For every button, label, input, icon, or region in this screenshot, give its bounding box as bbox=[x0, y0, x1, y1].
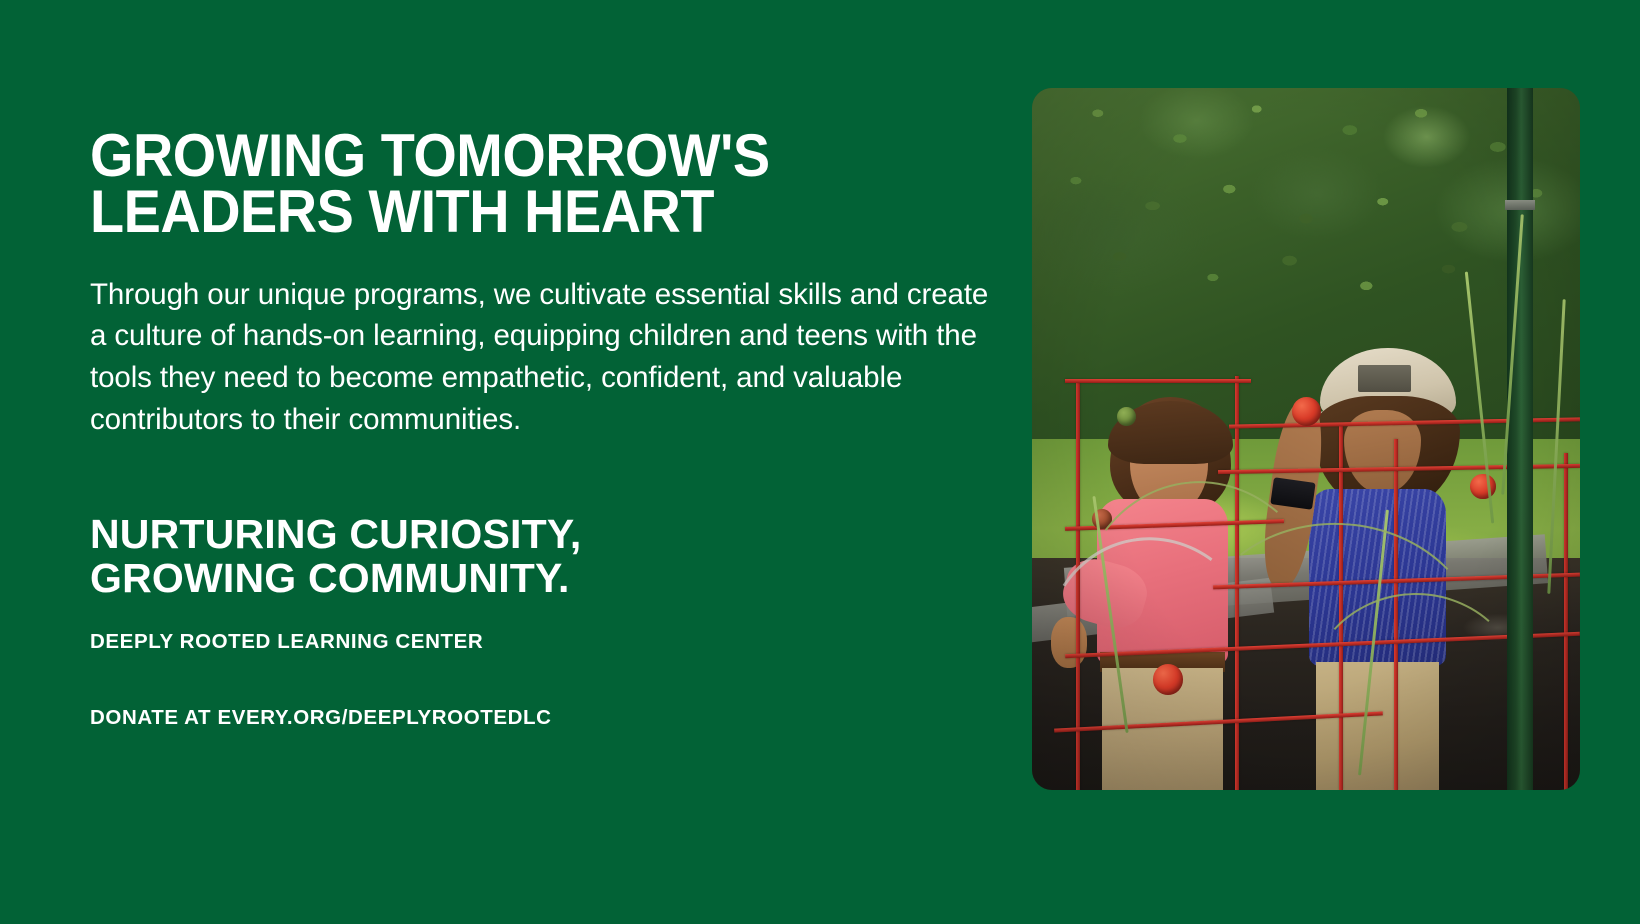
body-paragraph: Through our unique programs, we cultivat… bbox=[90, 274, 990, 442]
page-title: GROWING TOMORROW'S LEADERS WITH HEART bbox=[90, 128, 927, 240]
poster-canvas: GROWING TOMORROW'S LEADERS WITH HEART Th… bbox=[0, 0, 1640, 924]
organization-name: DEEPLY ROOTED LEARNING CENTER bbox=[90, 630, 990, 654]
fence-post-bracket bbox=[1505, 200, 1535, 210]
cage-wire-horizontal bbox=[1065, 379, 1251, 383]
green-tomato-fruit bbox=[1117, 407, 1136, 426]
cage-wire-vertical bbox=[1564, 453, 1568, 790]
photo-scene bbox=[1032, 88, 1580, 790]
tomato-fruit bbox=[1470, 474, 1495, 499]
text-column: GROWING TOMORROW'S LEADERS WITH HEART Th… bbox=[90, 128, 990, 730]
garden-photo bbox=[1032, 88, 1580, 790]
donate-call-to-action[interactable]: DONATE AT EVERY.ORG/DEEPLYROOTEDLC bbox=[90, 706, 990, 730]
cap-front-patch bbox=[1358, 365, 1411, 392]
tagline-heading: NURTURING CURIOSITY, GROWING COMMUNITY. bbox=[90, 513, 990, 600]
